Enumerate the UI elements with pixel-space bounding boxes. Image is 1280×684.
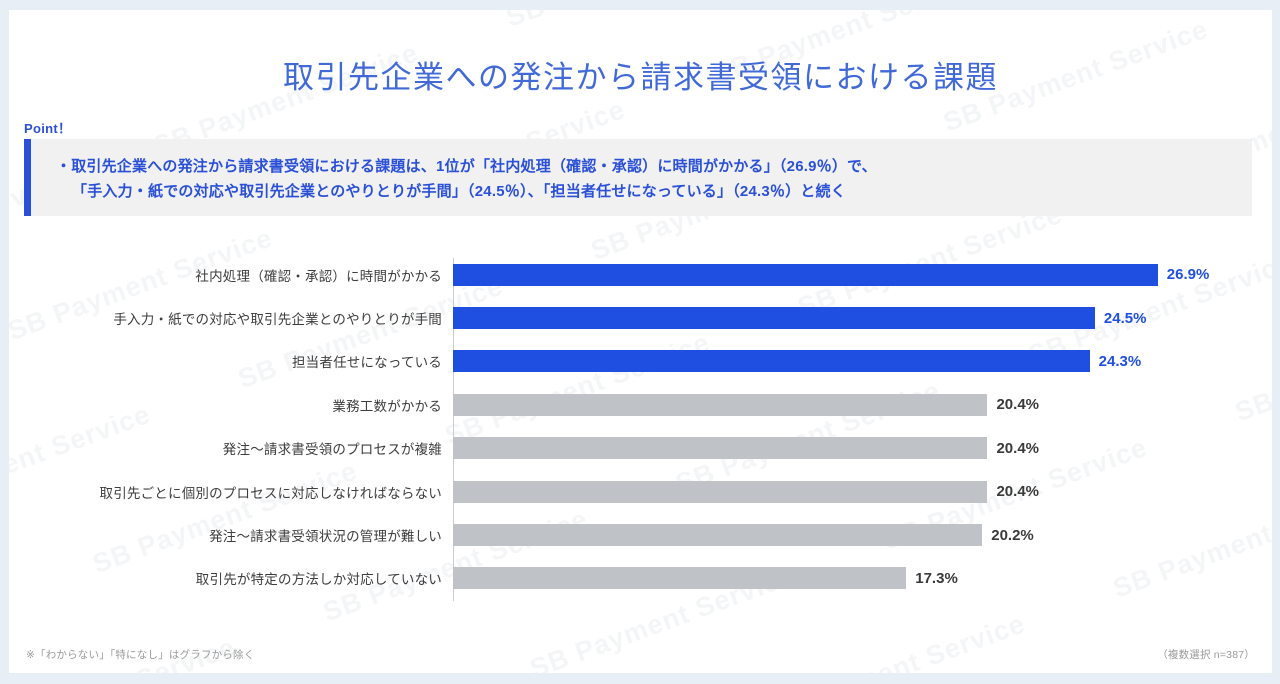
bar-segment [453,567,906,589]
bar-category-label: 取引先ごとに個別のプロセスに対応しなければならない [9,482,453,502]
bar-category-label: 社内処理（確認・承認）に時間がかかる [9,265,453,285]
bar-track: 26.9% [453,253,1272,296]
bar-segment [453,307,1095,329]
bar-track: 20.4% [453,470,1272,513]
bar-category-label: 業務工数がかかる [9,395,453,415]
slide-canvas: SB Payment ServiceSB Payment ServiceSB P… [9,10,1272,673]
bar-value-label: 17.3% [915,570,958,587]
bar-chart: 社内処理（確認・承認）に時間がかかる26.9%手入力・紙での対応や取引先企業との… [9,253,1272,605]
bar-segment [453,481,987,503]
bar-track: 20.4% [453,383,1272,426]
bar-category-label: 取引先が特定の方法しか対応していない [9,568,453,588]
footnote-left: ※「わからない」「特になし」はグラフから除く [26,647,254,662]
point-callout-box: ・取引先企業への発注から請求書受領における課題は、1位が「社内処理（確認・承認）… [24,139,1252,216]
bar-row: 発注〜請求書受領のプロセスが複雑20.4% [9,427,1272,470]
bar-category-label: 発注〜請求書受領状況の管理が難しい [9,525,453,545]
bar-track: 24.3% [453,340,1272,383]
bar-segment [453,524,982,546]
bar-track: 17.3% [453,557,1272,600]
page-title: 取引先企業への発注から請求書受領における課題 [9,52,1272,97]
bar-segment [453,264,1158,286]
bar-row: 発注〜請求書受領状況の管理が難しい20.2% [9,513,1272,556]
bar-category-label: 発注〜請求書受領のプロセスが複雑 [9,438,453,458]
point-text-line-1: ・取引先企業への発注から請求書受領における課題は、1位が「社内処理（確認・承認）… [56,158,877,175]
bar-value-label: 26.9% [1167,266,1210,283]
bar-row: 担当者任せになっている24.3% [9,340,1272,383]
bar-value-label: 20.2% [991,527,1034,544]
bar-row: 取引先ごとに個別のプロセスに対応しなければならない20.4% [9,470,1272,513]
bar-segment [453,394,987,416]
footnote-right: （複数選択 n=387） [1157,647,1255,662]
bar-value-label: 20.4% [996,396,1039,413]
bar-row: 手入力・紙での対応や取引先企業とのやりとりが手間24.5% [9,296,1272,339]
bar-row: 社内処理（確認・承認）に時間がかかる26.9% [9,253,1272,296]
bar-segment [453,437,987,459]
bar-track: 24.5% [453,296,1272,339]
bar-value-label: 20.4% [996,440,1039,457]
bar-track: 20.2% [453,513,1272,556]
point-callout-text: ・取引先企業への発注から請求書受領における課題は、1位が「社内処理（確認・承認）… [56,154,1238,204]
bar-track: 20.4% [453,427,1272,470]
bar-row: 業務工数がかかる20.4% [9,383,1272,426]
bar-row: 取引先が特定の方法しか対応していない17.3% [9,557,1272,600]
point-accent-bar [24,139,31,216]
bar-value-label: 20.4% [996,483,1039,500]
point-text-line-2: 「手入力・紙での対応や取引先企業とのやりとりが手間」（24.5％）、「担当者任せ… [56,179,1238,204]
point-label: Point！ [24,118,71,137]
bar-category-label: 担当者任せになっている [9,351,453,371]
bar-value-label: 24.3% [1099,353,1142,370]
bar-value-label: 24.5% [1104,310,1147,327]
bar-segment [453,350,1090,372]
bar-category-label: 手入力・紙での対応や取引先企業とのやりとりが手間 [9,308,453,328]
